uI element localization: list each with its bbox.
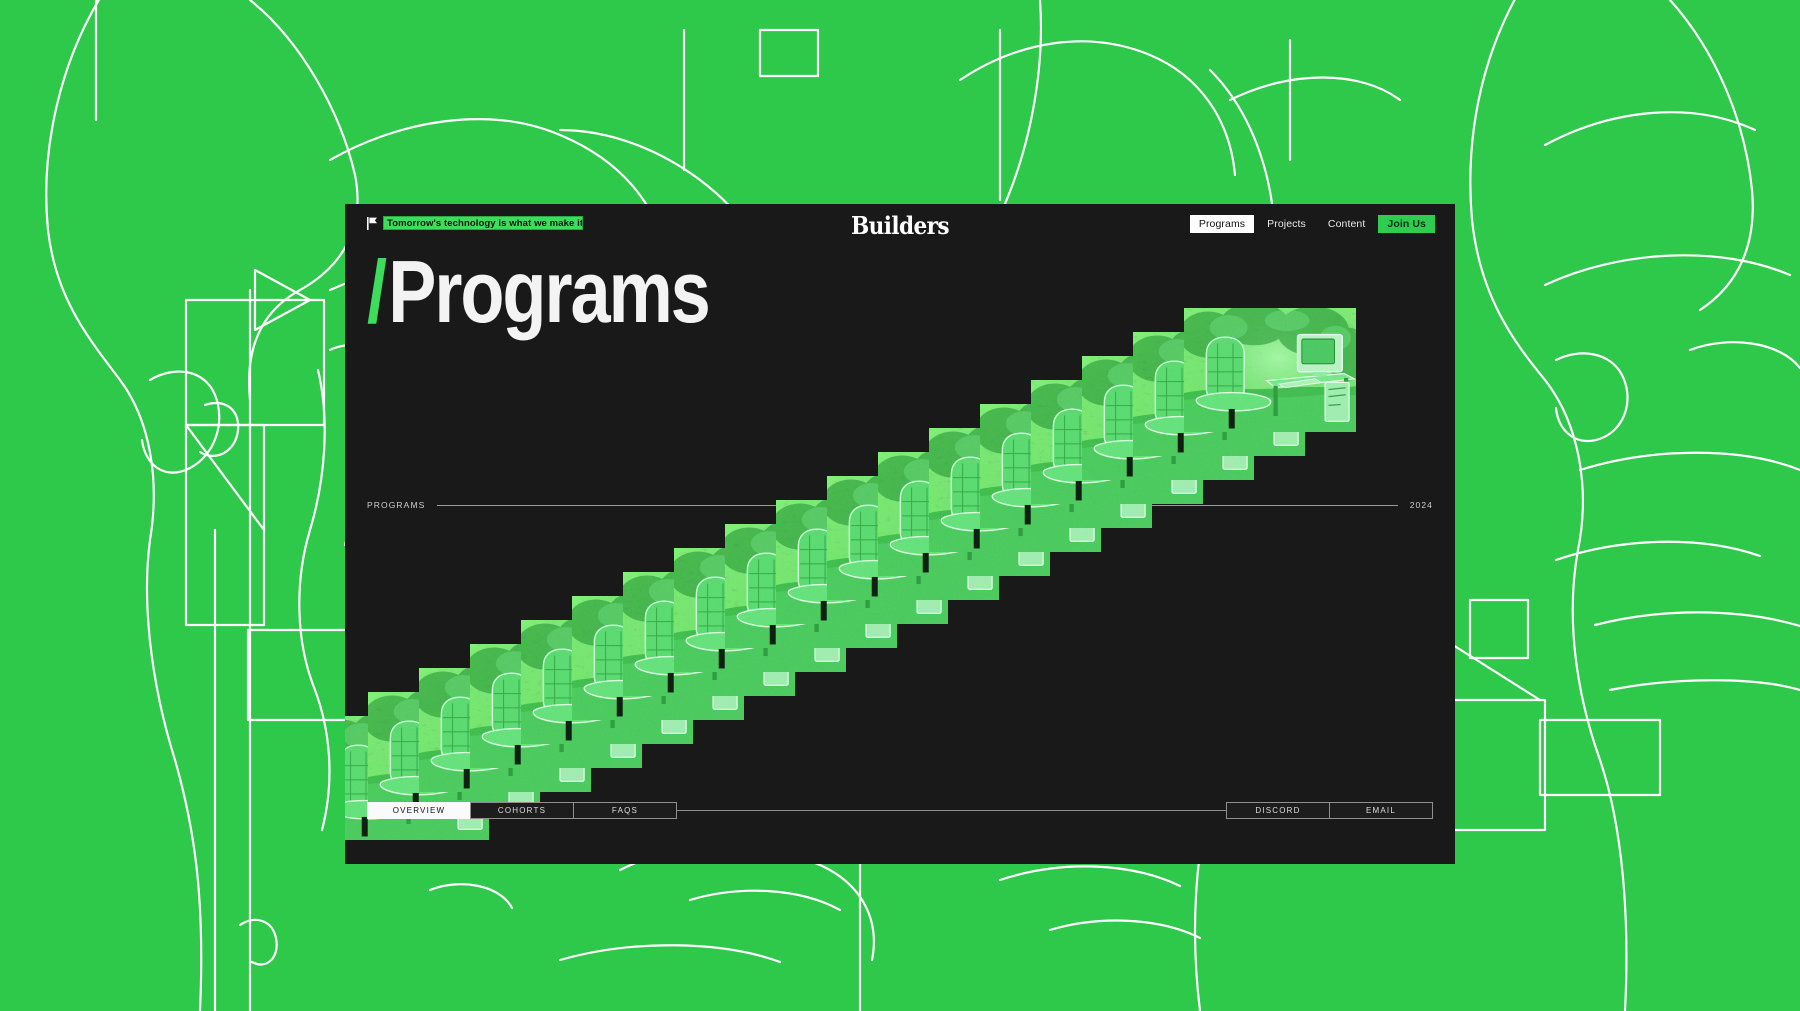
collage-tile xyxy=(929,428,1101,552)
page-title: /Programs xyxy=(367,252,709,333)
nav-item-programs[interactable]: Programs xyxy=(1190,215,1254,233)
collage-tile xyxy=(419,668,591,792)
flag-icon xyxy=(367,217,378,230)
nav-item-projects[interactable]: Projects xyxy=(1258,215,1315,233)
collage-tile xyxy=(521,620,693,744)
collage-tile xyxy=(345,716,489,840)
collage-tile xyxy=(1133,332,1305,456)
meta-row: PROGRAMS 2024 xyxy=(367,500,1433,510)
announcement-ticker: Tomorrow's technology is what we make it… xyxy=(367,216,583,230)
title-slash: / xyxy=(367,242,385,341)
collage-tile xyxy=(1082,356,1254,480)
button-email[interactable]: EMAIL xyxy=(1329,802,1433,819)
collage-tile xyxy=(878,452,1050,576)
collage-tile xyxy=(1031,380,1203,504)
meta-divider xyxy=(437,505,1397,506)
collage-tile xyxy=(1184,308,1356,432)
meta-label-year: 2024 xyxy=(1410,500,1433,510)
primary-nav: Programs Projects Content Join Us xyxy=(1190,215,1435,233)
collage-tile xyxy=(623,572,795,696)
section-tabbar: OVERVIEW COHORTS FAQS DISCORD EMAIL xyxy=(367,802,1433,819)
ticker-text-1: Tomorrow's technology is what we make it… xyxy=(387,218,583,229)
nav-item-content[interactable]: Content xyxy=(1319,215,1374,233)
contact-actions: DISCORD EMAIL xyxy=(1226,802,1433,819)
ticker-viewport: Tomorrow's technology is what we make it… xyxy=(383,216,583,230)
collage-tile xyxy=(674,548,846,672)
collage-tile xyxy=(572,596,744,720)
title-text: Programs xyxy=(388,242,708,341)
tab-faqs[interactable]: FAQS xyxy=(573,802,677,819)
ticker-track: Tomorrow's technology is what we make it… xyxy=(387,217,583,230)
collage-tile xyxy=(776,500,948,624)
nav-item-join-us[interactable]: Join Us xyxy=(1378,215,1435,233)
tab-overview[interactable]: OVERVIEW xyxy=(367,802,471,819)
meta-label-left: PROGRAMS xyxy=(367,500,425,510)
button-discord[interactable]: DISCORD xyxy=(1226,802,1330,819)
collage-tile xyxy=(470,644,642,768)
site-header: Tomorrow's technology is what we make it… xyxy=(345,204,1455,246)
site-viewport: Tomorrow's technology is what we make it… xyxy=(345,204,1455,864)
collage-tile xyxy=(827,476,999,600)
tab-cohorts[interactable]: COHORTS xyxy=(470,802,574,819)
collage-tile xyxy=(368,692,540,816)
tabbar-divider xyxy=(677,810,1226,811)
collage-tile xyxy=(725,524,897,648)
brand-logo[interactable]: Builders xyxy=(851,214,949,238)
